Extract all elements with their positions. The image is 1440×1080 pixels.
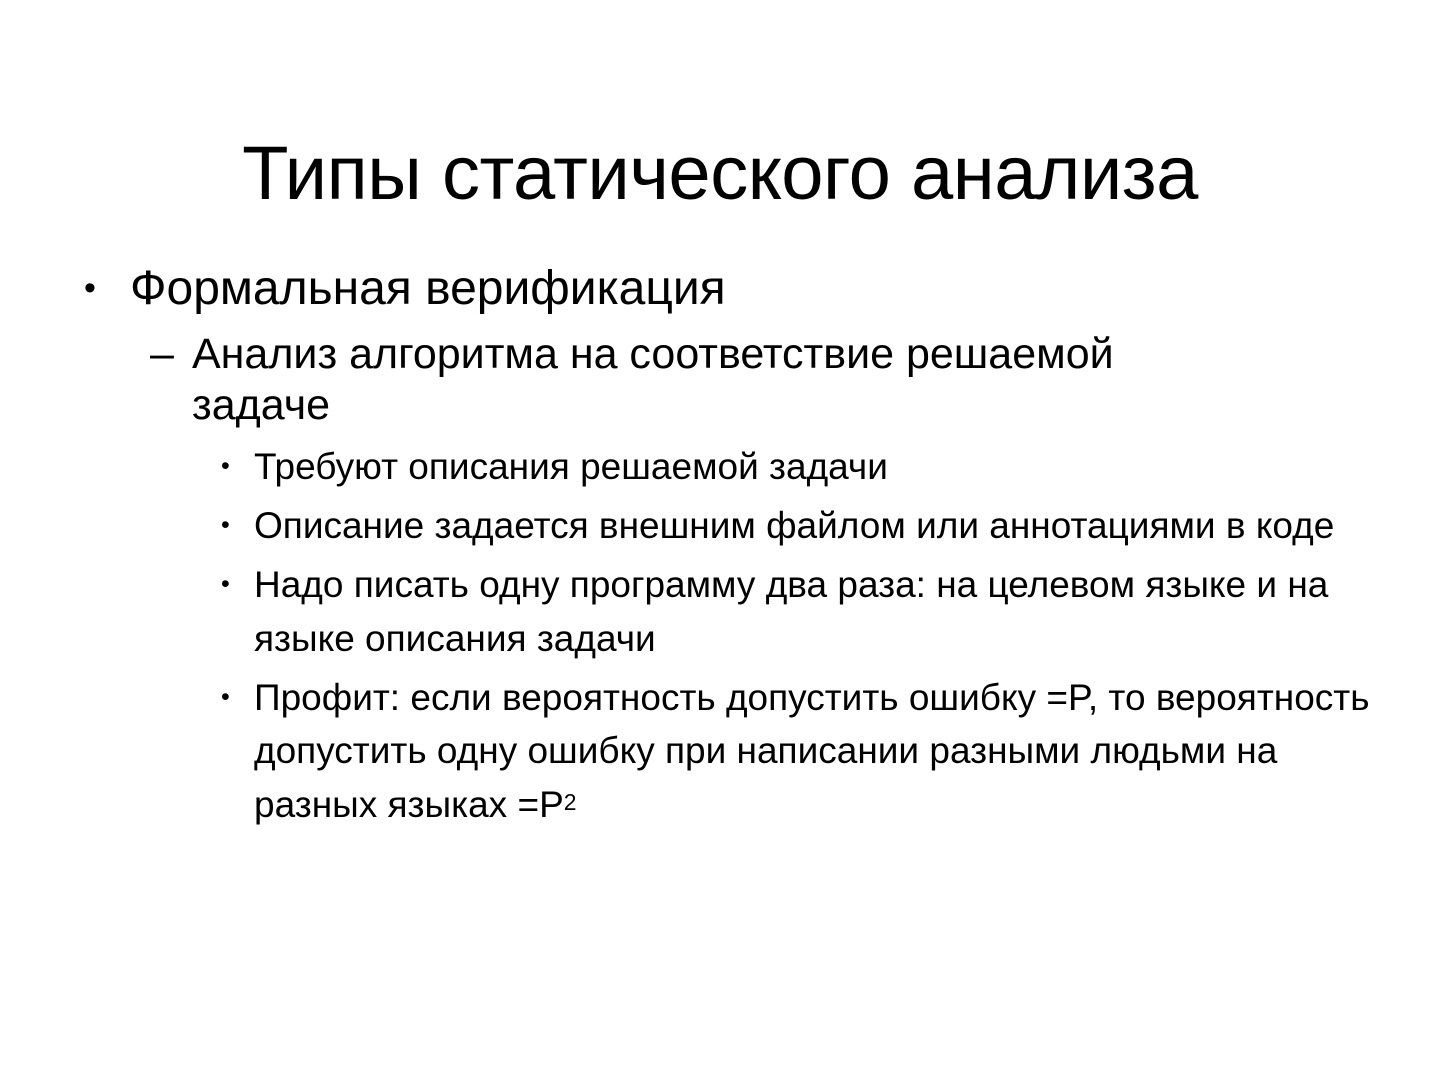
bullet-dot-icon: • [221, 558, 254, 611]
outline-item-level3-2: • Описание задается внешним файлом или а… [84, 499, 1384, 552]
exponent-superscript: 2 [564, 789, 577, 815]
bullet-dot-icon: • [221, 499, 254, 552]
outline-item-level3-1: • Требуют описания решаемой задачи [84, 440, 1384, 493]
outline-item-level2: – Анализ алгоритма на соответствие решае… [84, 329, 1384, 432]
outline-item-level3-3: • Надо писать одну программу два раза: н… [84, 558, 1384, 665]
outline-item-level3-4: • Профит: если вероятность допустить оши… [84, 671, 1384, 831]
bullet-dot-icon: • [84, 262, 130, 315]
bullet-dot-icon: • [221, 440, 254, 493]
outline-level3-text: Профит: если вероятность допустить ошибк… [254, 677, 1370, 825]
slide-body-outline: • Формальная верификация – Анализ алгори… [84, 262, 1384, 831]
bullet-dash-icon: – [150, 329, 192, 381]
presentation-slide: Типы статического анализа • Формальная в… [0, 0, 1440, 1080]
outline-level1-text: Формальная верификация [130, 262, 1310, 317]
outline-level3-text: Описание задается внешним файлом или анн… [254, 499, 1369, 552]
outline-level2-text: Анализ алгоритма на соответствие решаемо… [192, 329, 1117, 432]
bullet-dot-icon: • [221, 671, 254, 724]
outline-level3-text: Надо писать одну программу два раза: на … [254, 558, 1369, 665]
page-title: Типы статического анализа [80, 135, 1360, 213]
outline-level3-text-with-exponent: Профит: если вероятность допустить ошибк… [254, 671, 1384, 831]
outline-item-level1: • Формальная верификация [84, 262, 1384, 317]
outline-level3-text: Требуют описания решаемой задачи [254, 440, 1369, 493]
